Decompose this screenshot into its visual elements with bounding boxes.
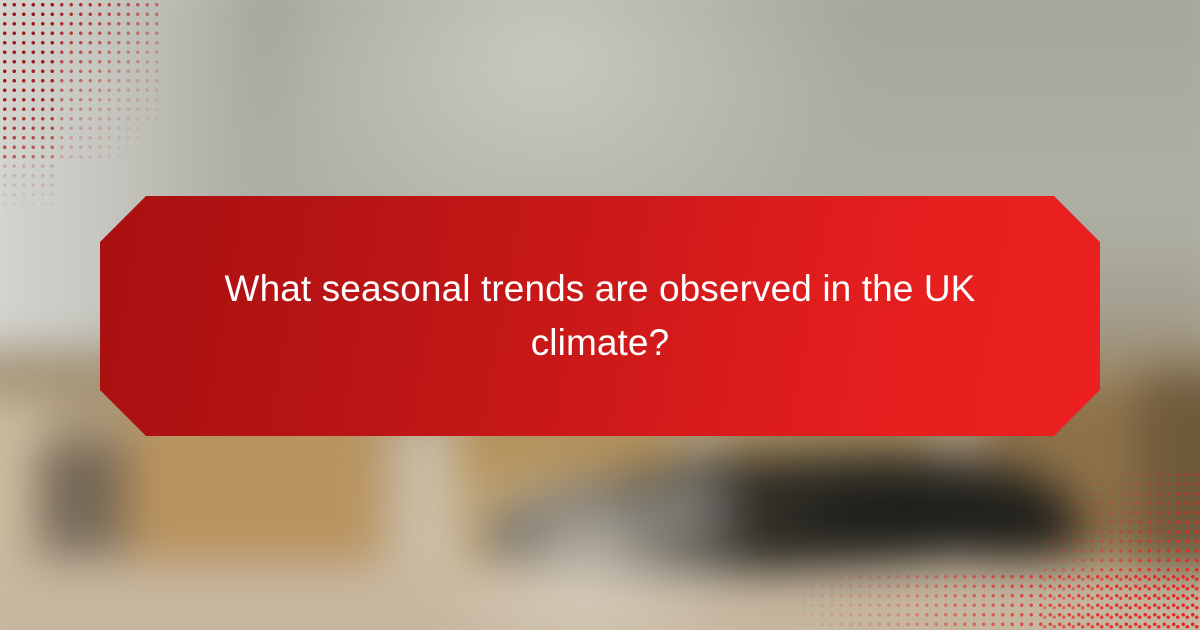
background-floor-reflection — [421, 471, 754, 630]
social-share-card: What seasonal trends are observed in the… — [0, 0, 1200, 630]
background-furniture-block — [1138, 372, 1200, 571]
page-title: What seasonal trends are observed in the… — [210, 262, 990, 371]
title-banner: What seasonal trends are observed in the… — [100, 196, 1100, 436]
